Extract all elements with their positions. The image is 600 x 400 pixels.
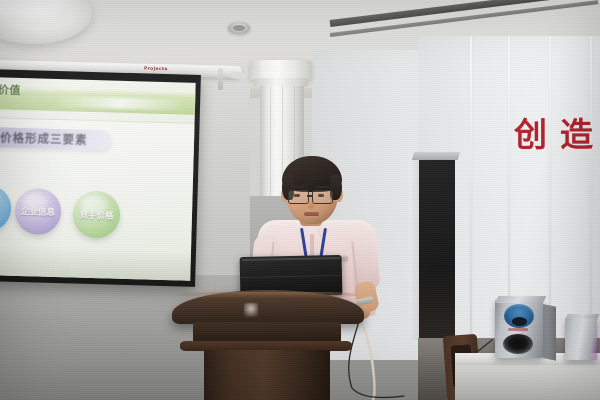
roller-bracket	[218, 68, 223, 90]
wall-panel-seam	[590, 36, 592, 358]
slide-header-band	[0, 85, 196, 115]
eyeglasses-lens-left	[288, 190, 309, 204]
speaker-main-top	[495, 296, 546, 303]
eyeglasses-lens-right	[312, 190, 333, 204]
presenter-eyebrow-left	[290, 186, 305, 188]
wall-panel-seam	[470, 36, 472, 358]
column-capital	[250, 60, 312, 80]
speaker-brand-badge	[508, 328, 528, 331]
doorway-opening	[419, 159, 455, 339]
side-table-body	[455, 365, 600, 400]
eyeglasses-bridge	[307, 195, 313, 197]
roller-brand-label: Projecta	[144, 67, 168, 73]
speaker-tweeter	[504, 304, 534, 328]
presenter-eyebrow-right	[315, 186, 330, 188]
recessed-spotlight-icon	[228, 22, 250, 34]
conference-room-photo: 创造国 Projecta 的价值 顾客价格形成三要素 经验 企业信息 竞手价格	[0, 0, 600, 400]
projection-screen: 的价值 顾客价格形成三要素 经验 企业信息 竞手价格	[0, 69, 201, 287]
speaker-main-side-panel	[543, 304, 556, 361]
projected-slide: 的价值 顾客价格形成三要素 经验 企业信息 竞手价格	[0, 77, 196, 281]
speaker-satellite	[565, 318, 597, 360]
presenter-mouth	[304, 212, 319, 216]
wall-slogan-text: 创造国	[514, 118, 600, 151]
doorway-lintel	[412, 152, 460, 160]
slide-header-title: 的价值	[0, 81, 21, 98]
speaker-woofer	[503, 334, 533, 354]
presenter-nose	[308, 199, 314, 209]
podium-emblem	[244, 303, 258, 317]
podium-top-highlight	[178, 292, 358, 298]
podium-base	[204, 350, 330, 400]
